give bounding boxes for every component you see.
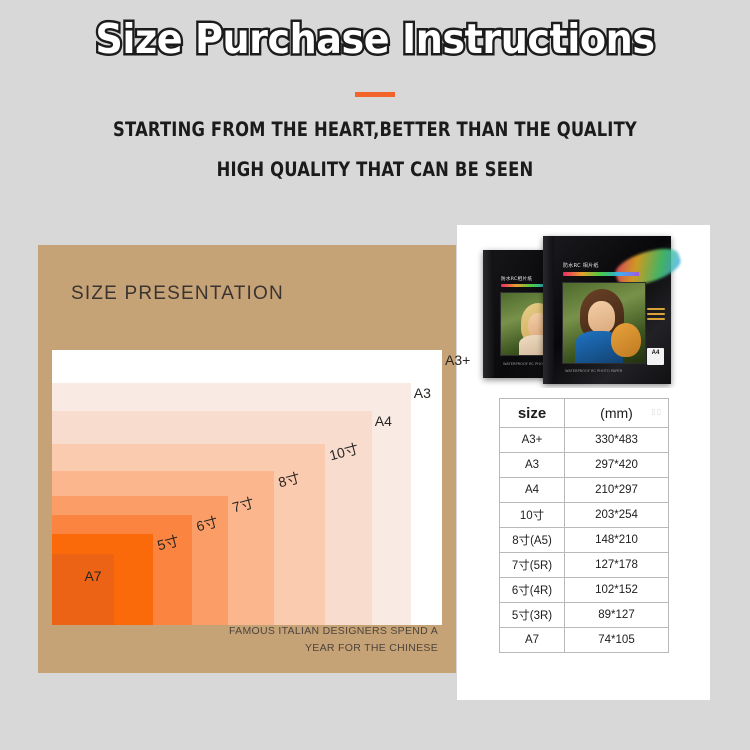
size-layer-label: A7 bbox=[84, 568, 101, 584]
cell-size: 6寸(4R) bbox=[500, 578, 565, 603]
table-row: 10寸203*254 bbox=[500, 503, 669, 528]
size-layer-label: A4 bbox=[375, 413, 392, 429]
table-body: A3+330*483A3297*420A4210*29710寸203*2548寸… bbox=[500, 428, 669, 653]
cell-mm: 89*127 bbox=[565, 603, 669, 628]
box-front-title: 防水RC 相片纸 bbox=[563, 262, 599, 269]
watermark: ▯▯ bbox=[651, 407, 662, 416]
subtitle-line-1: STARTING FROM THE HEART,BETTER THAN THE … bbox=[60, 118, 690, 141]
table-header-row: size (mm) ▯▯ bbox=[500, 399, 669, 428]
product-info-panel: 防水RC相片纸 WATERPROOF RC PHOTO PAPER 防水RC 相… bbox=[457, 225, 710, 700]
cell-size: A4 bbox=[500, 478, 565, 503]
box-front-photo bbox=[562, 282, 646, 364]
cell-mm: 297*420 bbox=[565, 453, 669, 478]
table-row: 6寸(4R)102*152 bbox=[500, 578, 669, 603]
cell-mm: 74*105 bbox=[565, 628, 669, 653]
header: Size Purchase Instructions STARTING FROM… bbox=[0, 0, 750, 200]
size-presentation-panel: SIZE PRESENTATION A3+A3A410寸8寸7寸6寸5寸A7 F… bbox=[38, 245, 456, 673]
size-layer-label: A3+ bbox=[445, 352, 470, 368]
title-divider bbox=[355, 92, 395, 97]
cell-size: 8寸(A5) bbox=[500, 528, 565, 553]
cell-size: A3 bbox=[500, 453, 565, 478]
size-presentation-heading: SIZE PRESENTATION bbox=[71, 283, 284, 305]
caption-line-1: FAMOUS ITALIAN DESIGNERS SPEND A bbox=[138, 623, 438, 640]
page-root: Size Purchase Instructions STARTING FROM… bbox=[0, 0, 750, 750]
cell-size: A3+ bbox=[500, 428, 565, 453]
table-row: 5寸(3R)89*127 bbox=[500, 603, 669, 628]
column-header-mm-label: (mm) bbox=[600, 405, 633, 421]
feature-line bbox=[647, 308, 665, 310]
subtitle-line-2: HIGH QUALITY THAT CAN BE SEEN bbox=[60, 158, 690, 181]
feature-line bbox=[647, 313, 665, 315]
column-header-size: size bbox=[500, 399, 565, 428]
cell-mm: 148*210 bbox=[565, 528, 669, 553]
page-title: Size Purchase Instructions bbox=[26, 15, 724, 63]
cell-mm: 330*483 bbox=[565, 428, 669, 453]
table-row: A3297*420 bbox=[500, 453, 669, 478]
table-row: A774*105 bbox=[500, 628, 669, 653]
cell-mm: 127*178 bbox=[565, 553, 669, 578]
size-layer-label: A3 bbox=[414, 385, 431, 401]
column-header-mm: (mm) ▯▯ bbox=[565, 399, 669, 428]
cell-size: 5寸(3R) bbox=[500, 603, 565, 628]
feature-lines bbox=[647, 308, 665, 323]
size-comparison-chart: A3+A3A410寸8寸7寸6寸5寸A7 bbox=[52, 350, 442, 625]
photo-dog bbox=[611, 323, 641, 357]
size-badge: A4 bbox=[647, 348, 664, 365]
size-table: size (mm) ▯▯ A3+330*483A3297*420A4210*29… bbox=[499, 398, 669, 653]
table-row: A3+330*483 bbox=[500, 428, 669, 453]
table-row: 7寸(5R)127*178 bbox=[500, 553, 669, 578]
cell-size: 10寸 bbox=[500, 503, 565, 528]
product-box-front: 防水RC 相片纸 A4 WATERPROOF RC PHOTO PAPER bbox=[543, 236, 671, 384]
cell-size: A7 bbox=[500, 628, 565, 653]
size-layer-A7 bbox=[52, 554, 114, 626]
cell-size: 7寸(5R) bbox=[500, 553, 565, 578]
cell-mm: 210*297 bbox=[565, 478, 669, 503]
cell-mm: 203*254 bbox=[565, 503, 669, 528]
table-row: 8寸(A5)148*210 bbox=[500, 528, 669, 553]
table-row: A4210*297 bbox=[500, 478, 669, 503]
box-spine bbox=[483, 250, 494, 378]
feature-line bbox=[647, 318, 665, 320]
rainbow-stripe bbox=[563, 272, 639, 276]
photo-face bbox=[588, 301, 615, 333]
panel-caption: FAMOUS ITALIAN DESIGNERS SPEND A YEAR FO… bbox=[138, 623, 438, 657]
cell-mm: 102*152 bbox=[565, 578, 669, 603]
caption-line-2: YEAR FOR THE CHINESE bbox=[138, 640, 438, 657]
table-head: size (mm) ▯▯ bbox=[500, 399, 669, 428]
box-spine bbox=[543, 236, 554, 384]
box-back-title: 防水RC相片纸 bbox=[501, 276, 532, 282]
box-front-footer: WATERPROOF RC PHOTO PAPER bbox=[565, 369, 622, 373]
product-image: 防水RC相片纸 WATERPROOF RC PHOTO PAPER 防水RC 相… bbox=[465, 228, 705, 388]
